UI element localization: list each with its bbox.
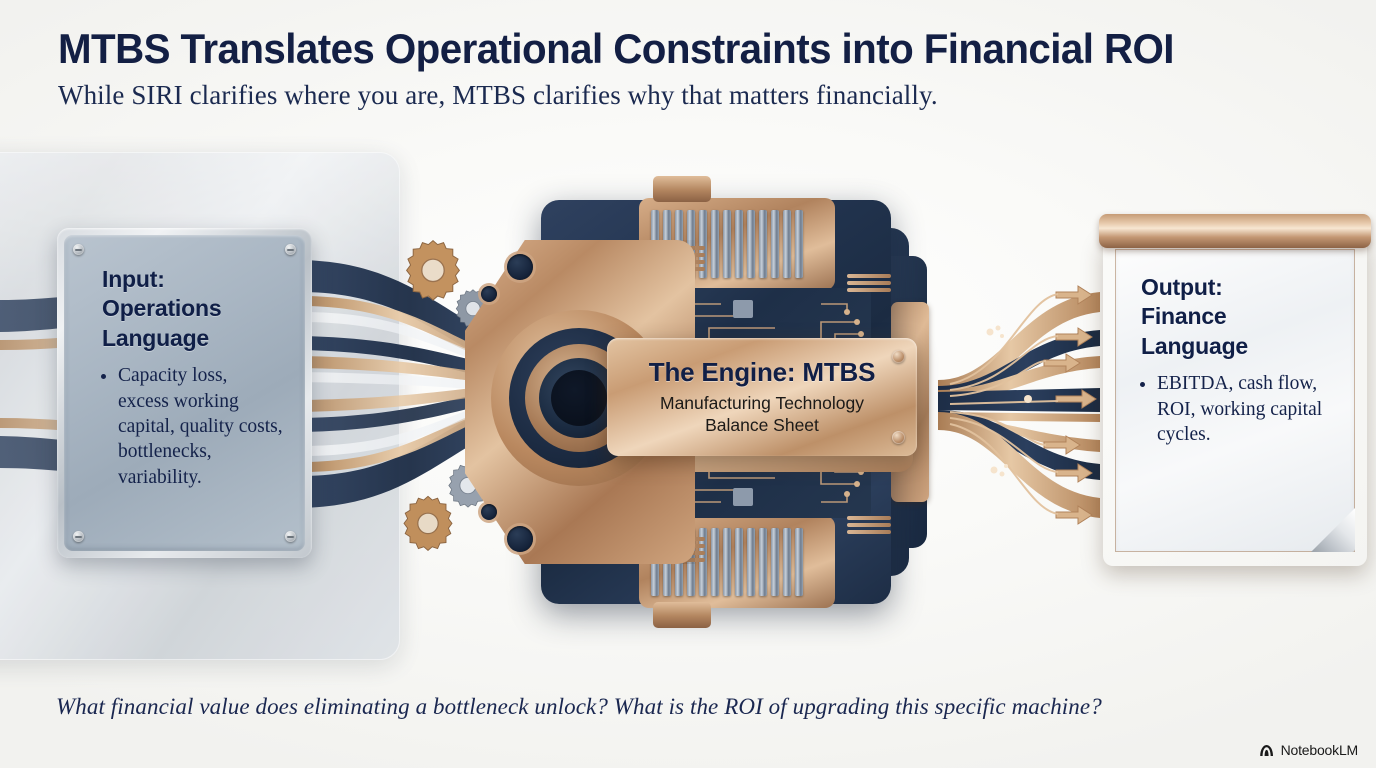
- nameplate-subtitle-line-1: Manufacturing Technology: [660, 393, 864, 415]
- engine-bolt-tl2: [481, 286, 497, 302]
- engine-nameplate: The Engine: MTBS Manufacturing Technolog…: [607, 338, 917, 456]
- output-panel-paper: Output: Finance Language EBITDA, cash fl…: [1115, 249, 1355, 552]
- engine-bolt-bl: [507, 526, 533, 552]
- input-heading-line-2: Operations: [102, 294, 283, 323]
- document-page-curl: [1311, 508, 1355, 552]
- watermark-label: NotebookLM: [1281, 742, 1358, 758]
- nameplate-title: The Engine: MTBS: [649, 357, 875, 388]
- engine-side-slats-bottom: [847, 516, 891, 534]
- input-heading-line-3: Language: [102, 324, 283, 353]
- engine-cap-bottom: [653, 602, 711, 628]
- input-panel-plate: Input: Operations Language Capacity loss…: [57, 228, 312, 558]
- engine-bolt-bl2: [481, 504, 497, 520]
- page-title: MTBS Translates Operational Constraints …: [58, 26, 1287, 71]
- infographic-canvas: MTBS Translates Operational Constraints …: [0, 0, 1376, 768]
- screw-bottom-right-icon: [285, 531, 296, 542]
- gear-bronze-bottom: [398, 494, 458, 554]
- nameplate-subtitle-line-2: Balance Sheet: [660, 415, 864, 437]
- screw-bottom-left-icon: [73, 531, 84, 542]
- output-heading-line-2: Finance: [1141, 302, 1339, 331]
- page-subtitle: While SIRI clarifies where you are, MTBS…: [58, 80, 1338, 111]
- engine-side-slats-top: [847, 274, 891, 292]
- notebooklm-watermark: NotebookLM: [1258, 742, 1358, 758]
- input-heading-line-1: Input:: [102, 265, 283, 294]
- engine-intake-bore: [551, 370, 607, 426]
- document-top-rod: [1099, 214, 1371, 248]
- input-panel-heading: Input: Operations Language: [102, 265, 283, 353]
- output-heading-line-3: Language: [1141, 332, 1339, 361]
- footer-caption: What financial value does eliminating a …: [56, 694, 1356, 720]
- input-panel-bullet-list: Capacity loss, excess working capital, q…: [102, 363, 283, 490]
- output-panel-bullet-list: EBITDA, cash flow, ROI, working capital …: [1141, 371, 1339, 447]
- document-frame: Output: Finance Language EBITDA, cash fl…: [1103, 236, 1367, 566]
- screw-top-left-icon: [73, 244, 84, 255]
- list-item: Capacity loss, excess working capital, q…: [118, 363, 283, 490]
- nameplate-screw-bottom-right-icon: [892, 431, 905, 444]
- engine-bolt-tl: [507, 254, 533, 280]
- output-heading-line-1: Output:: [1141, 273, 1339, 302]
- header-block: MTBS Translates Operational Constraints …: [58, 26, 1338, 111]
- list-item: EBITDA, cash flow, ROI, working capital …: [1157, 371, 1339, 447]
- output-panel-heading: Output: Finance Language: [1141, 273, 1339, 361]
- nameplate-subtitle: Manufacturing Technology Balance Sheet: [660, 393, 864, 437]
- output-panel-document: Output: Finance Language EBITDA, cash fl…: [1103, 214, 1367, 566]
- input-panel-inner: Input: Operations Language Capacity loss…: [64, 235, 305, 551]
- nameplate-screw-top-right-icon: [892, 350, 905, 363]
- notebooklm-spiral-icon: [1258, 743, 1275, 758]
- engine-cap-top: [653, 176, 711, 202]
- screw-top-right-icon: [285, 244, 296, 255]
